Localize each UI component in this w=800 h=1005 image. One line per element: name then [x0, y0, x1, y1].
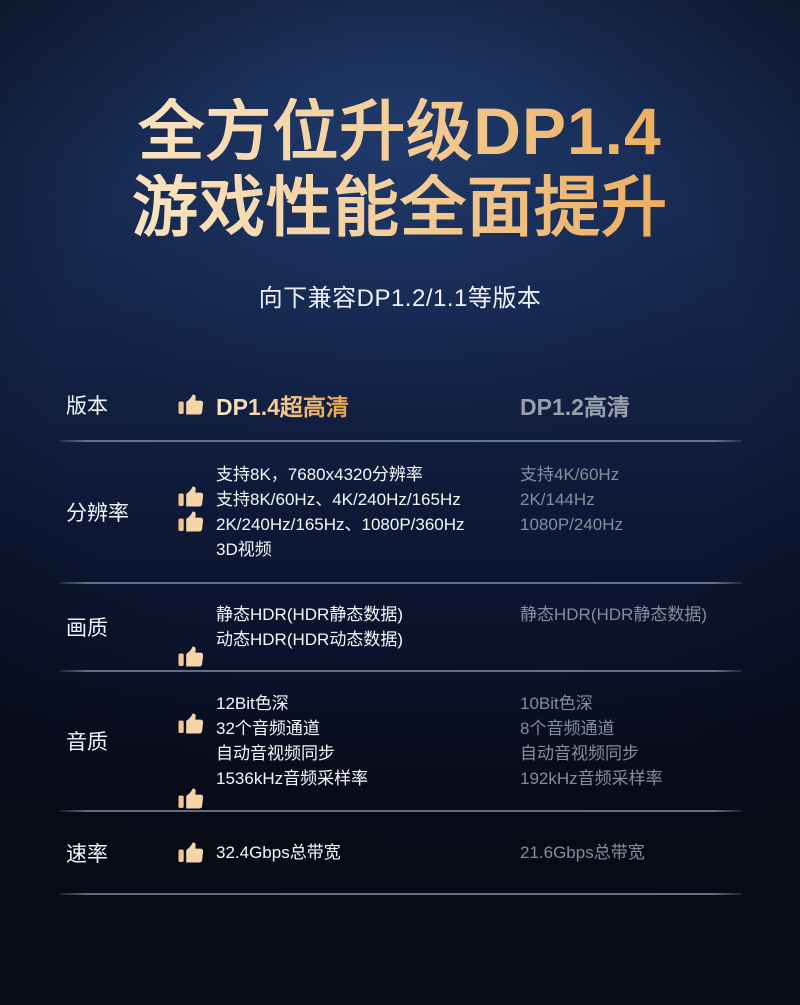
- hero-section: 全方位升级DP1.4 游戏性能全面提升 向下兼容DP1.2/1.1等版本: [0, 0, 800, 313]
- feature-line: 32.4Gbps总带宽: [216, 843, 341, 862]
- thumbs-up-icon: [178, 486, 204, 508]
- feature-line: 2K/144Hz: [520, 487, 742, 512]
- feature-line: 支持8K，7680x4320分辨率: [216, 462, 520, 487]
- promo-page: 全方位升级DP1.4 游戏性能全面提升 向下兼容DP1.2/1.1等版本 版本 …: [0, 0, 800, 1005]
- row-main-cell: DP1.4超高清: [170, 388, 520, 422]
- feature-line: 静态HDR(HDR静态数据): [216, 602, 520, 627]
- feature-line: 自动音视频同步: [520, 741, 742, 766]
- thumbs-up-icon: [178, 646, 204, 668]
- row-alt-cell: 21.6Gbps总带宽: [520, 840, 742, 865]
- hero-subtitle: 向下兼容DP1.2/1.1等版本: [0, 278, 800, 313]
- alt-feature-list: 10Bit色深 8个音频通道 自动音视频同步 192kHz音频采样率: [520, 691, 742, 791]
- thumbs-up-icon: [178, 511, 204, 533]
- row-main-cell: 静态HDR(HDR静态数据) 动态HDR(HDR动态数据): [170, 602, 520, 652]
- row-alt-cell: DP1.2高清: [520, 388, 742, 422]
- feature-line: 静态HDR(HDR静态数据): [520, 602, 742, 627]
- hero-title-line-2: 游戏性能全面提升: [0, 174, 800, 240]
- feature-line: 3D视频: [216, 537, 520, 562]
- row-main-cell: 支持8K，7680x4320分辨率 支持8K/60Hz、4K/240Hz/165…: [170, 462, 520, 562]
- feature-line: 支持4K/60Hz: [520, 462, 742, 487]
- row-alt-cell: 支持4K/60Hz 2K/144Hz 1080P/240Hz: [520, 487, 742, 537]
- row-main-cell: 32.4Gbps总带宽: [170, 840, 520, 865]
- hero-title-line-1: 全方位升级DP1.4: [0, 98, 800, 164]
- main-feature-list: 静态HDR(HDR静态数据) 动态HDR(HDR动态数据): [216, 602, 520, 652]
- table-row-audio-quality: 音质 12Bit色深 32个音频通道 自动音: [60, 672, 742, 810]
- feature-line: 支持8K/60Hz、4K/240Hz/165Hz: [216, 487, 520, 512]
- feature-line: 1536kHz音频采样率: [216, 766, 520, 791]
- main-feature-list: 12Bit色深 32个音频通道 自动音视频同步 1536kHz音频采样率: [216, 691, 520, 791]
- row-main-cell: 12Bit色深 32个音频通道 自动音视频同步 1536kHz音频采样率: [170, 691, 520, 791]
- row-label: 音质: [60, 726, 170, 756]
- feature-line: 12Bit色深: [216, 691, 520, 716]
- table-row-speed: 速率 32.4Gbps总带宽 21.6Gbps总带宽: [60, 812, 742, 893]
- row-label: 版本: [60, 390, 170, 420]
- alt-column-header: DP1.2高清: [520, 394, 630, 420]
- feature-line: 192kHz音频采样率: [520, 766, 742, 791]
- thumbs-up-icon: [178, 788, 204, 810]
- alt-feature-list: 静态HDR(HDR静态数据): [520, 602, 742, 627]
- thumbs-up-icon: [178, 394, 204, 416]
- alt-feature-list: 支持4K/60Hz 2K/144Hz 1080P/240Hz: [520, 462, 742, 537]
- row-alt-cell: 10Bit色深 8个音频通道 自动音视频同步 192kHz音频采样率: [520, 691, 742, 791]
- feature-line: 32个音频通道: [216, 716, 520, 741]
- main-feature-list: 支持8K，7680x4320分辨率 支持8K/60Hz、4K/240Hz/165…: [216, 462, 520, 562]
- table-row-version: 版本 DP1.4超高清 DP1.2高清: [60, 370, 742, 440]
- table-row-picture-quality: 画质 静态HDR(HDR静态数据) 动态HDR(HDR动态数据) 静态HDR(H…: [60, 584, 742, 670]
- feature-line: 10Bit色深: [520, 691, 742, 716]
- feature-line: 自动音视频同步: [216, 741, 520, 766]
- thumbs-up-icon: [178, 713, 204, 735]
- row-label: 速率: [60, 838, 170, 868]
- row-label: 画质: [60, 612, 170, 642]
- feature-line: 1080P/240Hz: [520, 512, 742, 537]
- divider: [60, 893, 742, 895]
- feature-line: 21.6Gbps总带宽: [520, 843, 645, 862]
- feature-line: 2K/240Hz/165Hz、1080P/360Hz: [216, 512, 520, 537]
- row-label: 分辨率: [60, 497, 170, 527]
- feature-line: 8个音频通道: [520, 716, 742, 741]
- feature-line: 动态HDR(HDR动态数据): [216, 627, 520, 652]
- main-column-header: DP1.4超高清: [216, 394, 349, 420]
- thumbs-up-icon: [178, 842, 204, 864]
- table-row-resolution: 分辨率 支持8K，7680x4320分辨率 支持8K/60Hz、: [60, 442, 742, 582]
- comparison-table: 版本 DP1.4超高清 DP1.2高清 分辨率: [60, 370, 742, 895]
